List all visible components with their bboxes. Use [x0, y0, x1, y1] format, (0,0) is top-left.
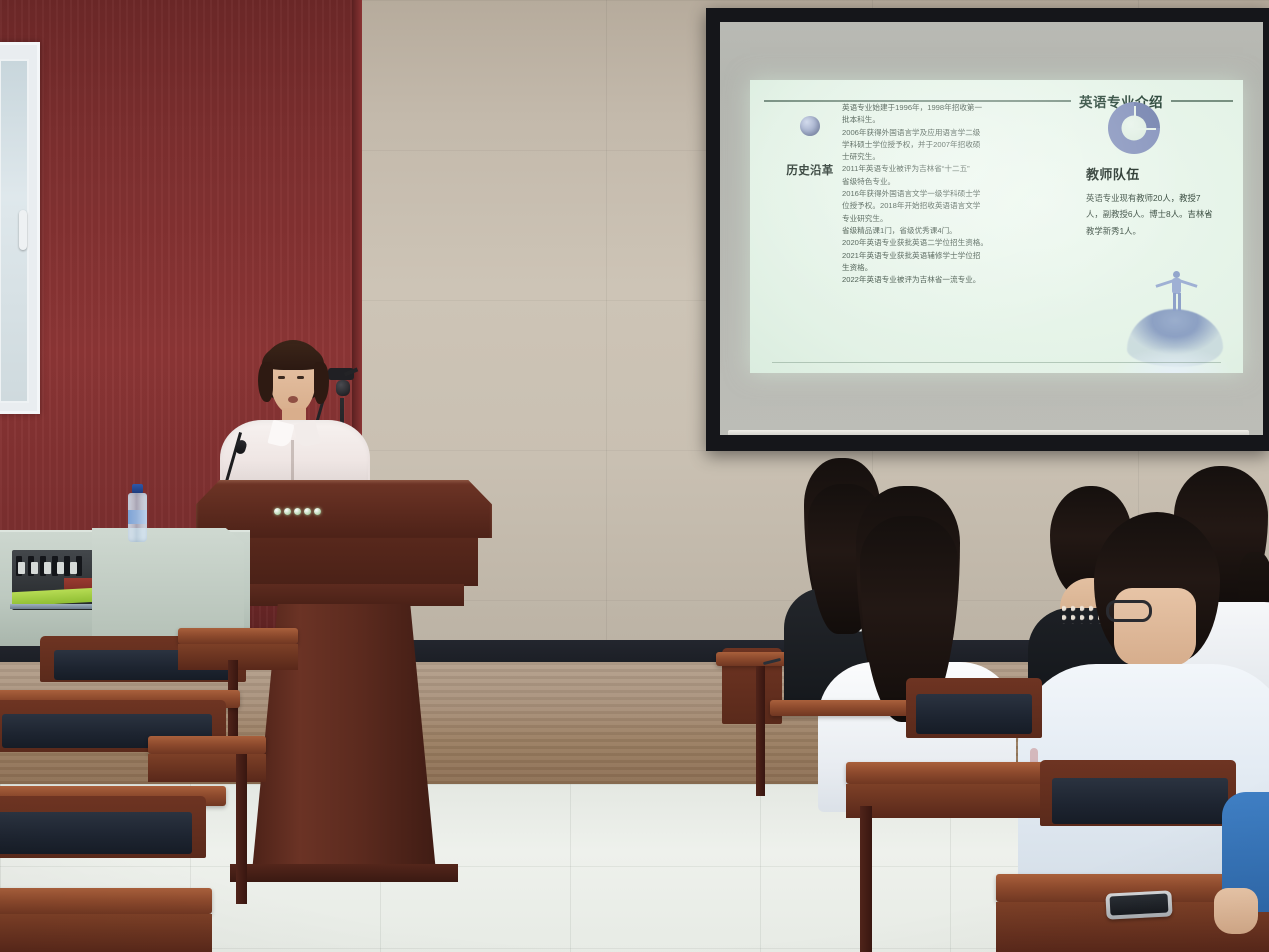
orb-icon	[800, 116, 820, 136]
led-indicator	[304, 508, 311, 515]
phone-screen	[1110, 893, 1169, 915]
slide-right-section: 教师队伍 英语专业现有教师20人，教授7人，副教授6人。博士8人。吉林省教学新秀…	[1080, 98, 1230, 239]
desk-leg	[860, 806, 872, 952]
presenter-eye-left	[278, 376, 285, 379]
led-indicator	[294, 508, 301, 515]
bottle-label	[128, 510, 147, 524]
body-line: 学科硕士学位授予权，并于2007年招收硕	[842, 139, 1060, 151]
led-indicator	[274, 508, 281, 515]
body-line: 省级特色专业。	[842, 176, 1060, 188]
knob[interactable]	[18, 562, 25, 574]
peak-mist	[1115, 337, 1233, 373]
figure-arm-right	[1179, 279, 1198, 288]
seat-cushion	[916, 694, 1032, 734]
screen-surface: 英语专业介绍 历史沿革 英语专业始建于1996年，1998年招收第一 批本科生。…	[720, 22, 1263, 435]
projection-screen: 英语专业介绍 历史沿革 英语专业始建于1996年，1998年招收第一 批本科生。…	[706, 8, 1269, 451]
seat-cushion	[0, 812, 192, 854]
left-section-body: 英语专业始建于1996年，1998年招收第一 批本科生。 2006年获得外国语言…	[842, 102, 1060, 286]
body-line: 专业研究生。	[842, 213, 1060, 225]
lectern-led-panel	[274, 508, 321, 515]
presenter-eye-right	[297, 376, 304, 379]
presentation-slide: 英语专业介绍 历史沿革 英语专业始建于1996年，1998年招收第一 批本科生。…	[750, 80, 1243, 373]
body-line: 2011年英语专业被评为吉林省“十二五”	[842, 163, 1060, 175]
desk-surface	[178, 628, 298, 644]
glasses-icon	[1106, 600, 1152, 622]
pie-spoke	[1134, 128, 1156, 130]
body-line: 2021年英语专业获批英语辅修学士学位招	[842, 250, 1060, 262]
slide-base-rule	[772, 362, 1221, 363]
knob[interactable]	[44, 562, 51, 574]
screen-roller-bar	[728, 430, 1249, 435]
body-line: 生资格。	[842, 262, 1060, 274]
desk-surface	[0, 888, 212, 914]
lectern-bevel	[224, 584, 464, 606]
desk-leg	[756, 666, 765, 796]
mixer-knobs[interactable]	[18, 562, 77, 574]
lecture-hall-scene: 英语专业介绍 历史沿革 英语专业始建于1996年，1998年招收第一 批本科生。…	[0, 0, 1269, 952]
body-line: 2016年获得外国语言文学一级学科硕士学	[842, 188, 1060, 200]
desk-front	[0, 914, 212, 952]
desk-front	[846, 784, 1046, 818]
right-section-label: 教师队伍	[1086, 164, 1140, 183]
body-line: 2006年获得外国语言学及应用语言学二级	[842, 127, 1060, 139]
av-desk-front-panel	[92, 528, 244, 636]
body-line: 省级精品课1门，省级优秀课4门。	[842, 225, 1060, 237]
desk-leg	[236, 754, 247, 904]
desk-front	[148, 754, 266, 782]
audience-member	[834, 486, 1002, 806]
audience-member	[1212, 792, 1269, 952]
presenter-hair-side-left	[258, 362, 273, 402]
body-line: 士研究生。	[842, 151, 1060, 163]
body-line: 位授予权。2018年开始招收英语语言文学	[842, 200, 1060, 212]
body-line: 英语专业始建于1996年，1998年招收第一	[842, 102, 1060, 114]
knob[interactable]	[31, 562, 38, 574]
slide-left-section: 历史沿革	[786, 116, 834, 178]
bottle-cap	[132, 484, 143, 493]
window-handle[interactable]	[19, 210, 27, 250]
seat-cushion	[1052, 778, 1228, 824]
presenter-hair-side-right	[314, 362, 329, 404]
lectern-middle	[210, 538, 478, 586]
water-bottle	[128, 484, 147, 542]
mountain-peak-graphic	[1111, 261, 1237, 373]
body-line: 2022年英语专业被评为吉林省一流专业。	[842, 274, 1060, 286]
figure-leg-left	[1173, 293, 1176, 311]
body-line: 2020年英语专业获批英语二学位招生资格。	[842, 237, 1060, 249]
led-indicator	[314, 508, 321, 515]
knob[interactable]	[57, 562, 64, 574]
knob[interactable]	[70, 562, 77, 574]
desk-front	[178, 644, 298, 670]
pie-chart-icon	[1108, 102, 1160, 154]
hand	[1214, 888, 1258, 934]
lectern-base	[230, 864, 458, 882]
figure-head	[1173, 271, 1180, 278]
figure-leg-right	[1178, 293, 1181, 311]
left-section-label: 历史沿革	[786, 162, 833, 178]
presenter-mouth	[288, 396, 298, 403]
right-section-body: 英语专业现有教师20人，教授7人，副教授6人。博士8人。吉林省教学新秀1人。	[1086, 190, 1216, 239]
figure-torso	[1172, 278, 1181, 294]
body-line: 批本科生。	[842, 114, 1060, 126]
side-window	[0, 42, 40, 414]
desk-surface	[148, 736, 266, 754]
desk-surface	[846, 762, 1046, 784]
led-indicator	[284, 508, 291, 515]
person-silhouette-icon	[1163, 271, 1189, 317]
smartphone-on-desk[interactable]	[1105, 890, 1172, 919]
